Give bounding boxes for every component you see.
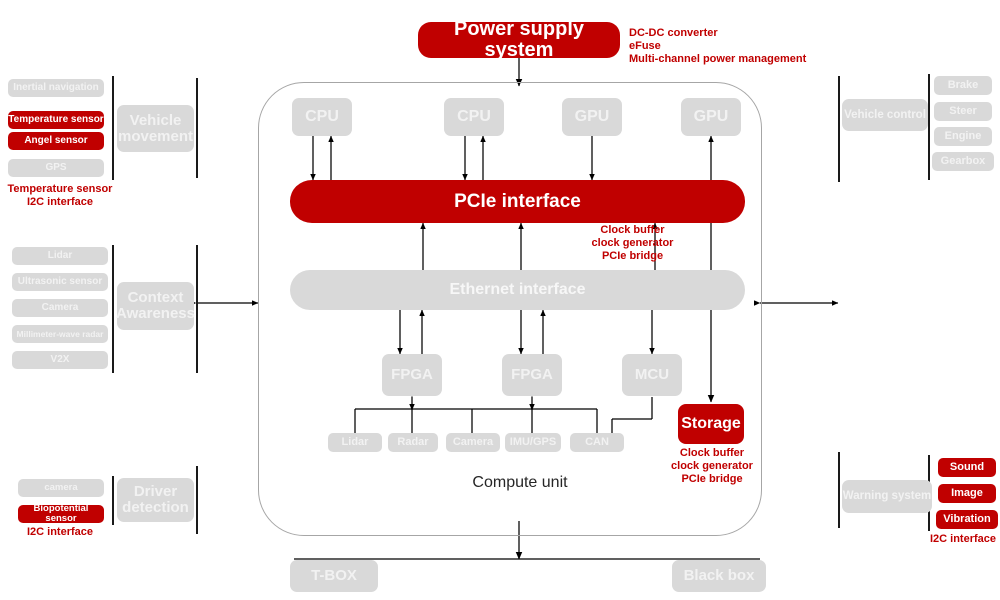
bracket-left-spine-middle — [196, 245, 198, 373]
power-supply-notes: DC-DC converter eFuse Multi-channel powe… — [629, 27, 879, 66]
note-driver-detection: I2C interface — [0, 526, 120, 539]
processor-gpu-1[interactable]: GPU — [562, 98, 622, 136]
bracket-left-spine-upper — [196, 78, 198, 178]
compute-unit-caption: Compute unit — [420, 474, 620, 492]
accelerator-mcu[interactable]: MCU — [622, 354, 682, 396]
bottom-tbox[interactable]: T-BOX — [290, 560, 378, 592]
actuator-gearbox[interactable]: Gearbox — [932, 152, 994, 171]
processor-cpu-2[interactable]: CPU — [444, 98, 504, 136]
peripheral-radar[interactable]: Radar — [388, 433, 438, 452]
note-vehicle-movement: Temperature sensor I2C interface — [0, 183, 122, 209]
group-warning-system[interactable]: Warning system — [842, 480, 932, 513]
pcie-notes: Clock buffer clock generator PCIe bridge — [545, 224, 720, 263]
peripheral-can[interactable]: CAN — [570, 433, 624, 452]
actuator-brake[interactable]: Brake — [934, 76, 992, 95]
bracket-left-spine-lower — [196, 466, 198, 534]
ethernet-interface-bar[interactable]: Ethernet interface — [290, 270, 745, 310]
sensor-ultrasonic[interactable]: Ultrasonic sensor — [12, 273, 108, 291]
sensor-millimeter-wave-radar[interactable]: Millimeter-wave radar — [12, 325, 108, 343]
diagram-canvas: Power supply system DC-DC converter eFus… — [0, 0, 1000, 600]
actuator-steer[interactable]: Steer — [934, 102, 992, 121]
peripheral-imu-gps[interactable]: IMU/GPS — [505, 433, 561, 452]
sensor-angel[interactable]: Angel sensor — [8, 132, 104, 150]
bracket-right-spine-lower — [838, 452, 840, 528]
accelerator-fpga-2[interactable]: FPGA — [502, 354, 562, 396]
processor-cpu-1[interactable]: CPU — [292, 98, 352, 136]
bottom-black-box[interactable]: Black box — [672, 560, 766, 592]
sensor-camera-context[interactable]: Camera — [12, 299, 108, 317]
accelerator-fpga-1[interactable]: FPGA — [382, 354, 442, 396]
processor-gpu-2[interactable]: GPU — [681, 98, 741, 136]
bracket-vehicle-control — [928, 74, 930, 180]
storage-notes: Clock buffer clock generator PCIe bridge — [645, 447, 779, 486]
group-vehicle-movement[interactable]: Vehicle movement — [117, 105, 194, 152]
sensor-v2x[interactable]: V2X — [12, 351, 108, 369]
peripheral-camera[interactable]: Camera — [446, 433, 500, 452]
warning-sound[interactable]: Sound — [938, 458, 996, 477]
bracket-driver-detection — [112, 476, 114, 525]
peripheral-lidar[interactable]: Lidar — [328, 433, 382, 452]
actuator-engine[interactable]: Engine — [934, 127, 992, 146]
bracket-right-spine-upper — [838, 76, 840, 182]
storage-block[interactable]: Storage — [678, 404, 744, 444]
bracket-context-awareness — [112, 245, 114, 373]
sensor-gps[interactable]: GPS — [8, 159, 104, 177]
sensor-lidar[interactable]: Lidar — [12, 247, 108, 265]
bracket-vehicle-movement — [112, 76, 114, 180]
power-supply-block[interactable]: Power supply system — [418, 22, 620, 58]
sensor-biopotential[interactable]: Biopotential sensor — [18, 505, 104, 523]
note-warning-system: I2C interface — [876, 533, 996, 546]
group-vehicle-control[interactable]: Vehicle control — [842, 99, 928, 131]
group-driver-detection[interactable]: Driver detection — [117, 478, 194, 522]
sensor-temperature[interactable]: Temperature sensor — [8, 111, 104, 129]
warning-image[interactable]: Image — [938, 484, 996, 503]
group-context-awareness[interactable]: Context Awareness — [117, 282, 194, 330]
warning-vibration[interactable]: Vibration — [936, 510, 998, 529]
sensor-driver-camera[interactable]: camera — [18, 479, 104, 497]
pcie-interface-bar[interactable]: PCIe interface — [290, 180, 745, 223]
sensor-inertial-navigation[interactable]: Inertial navigation — [8, 79, 104, 97]
